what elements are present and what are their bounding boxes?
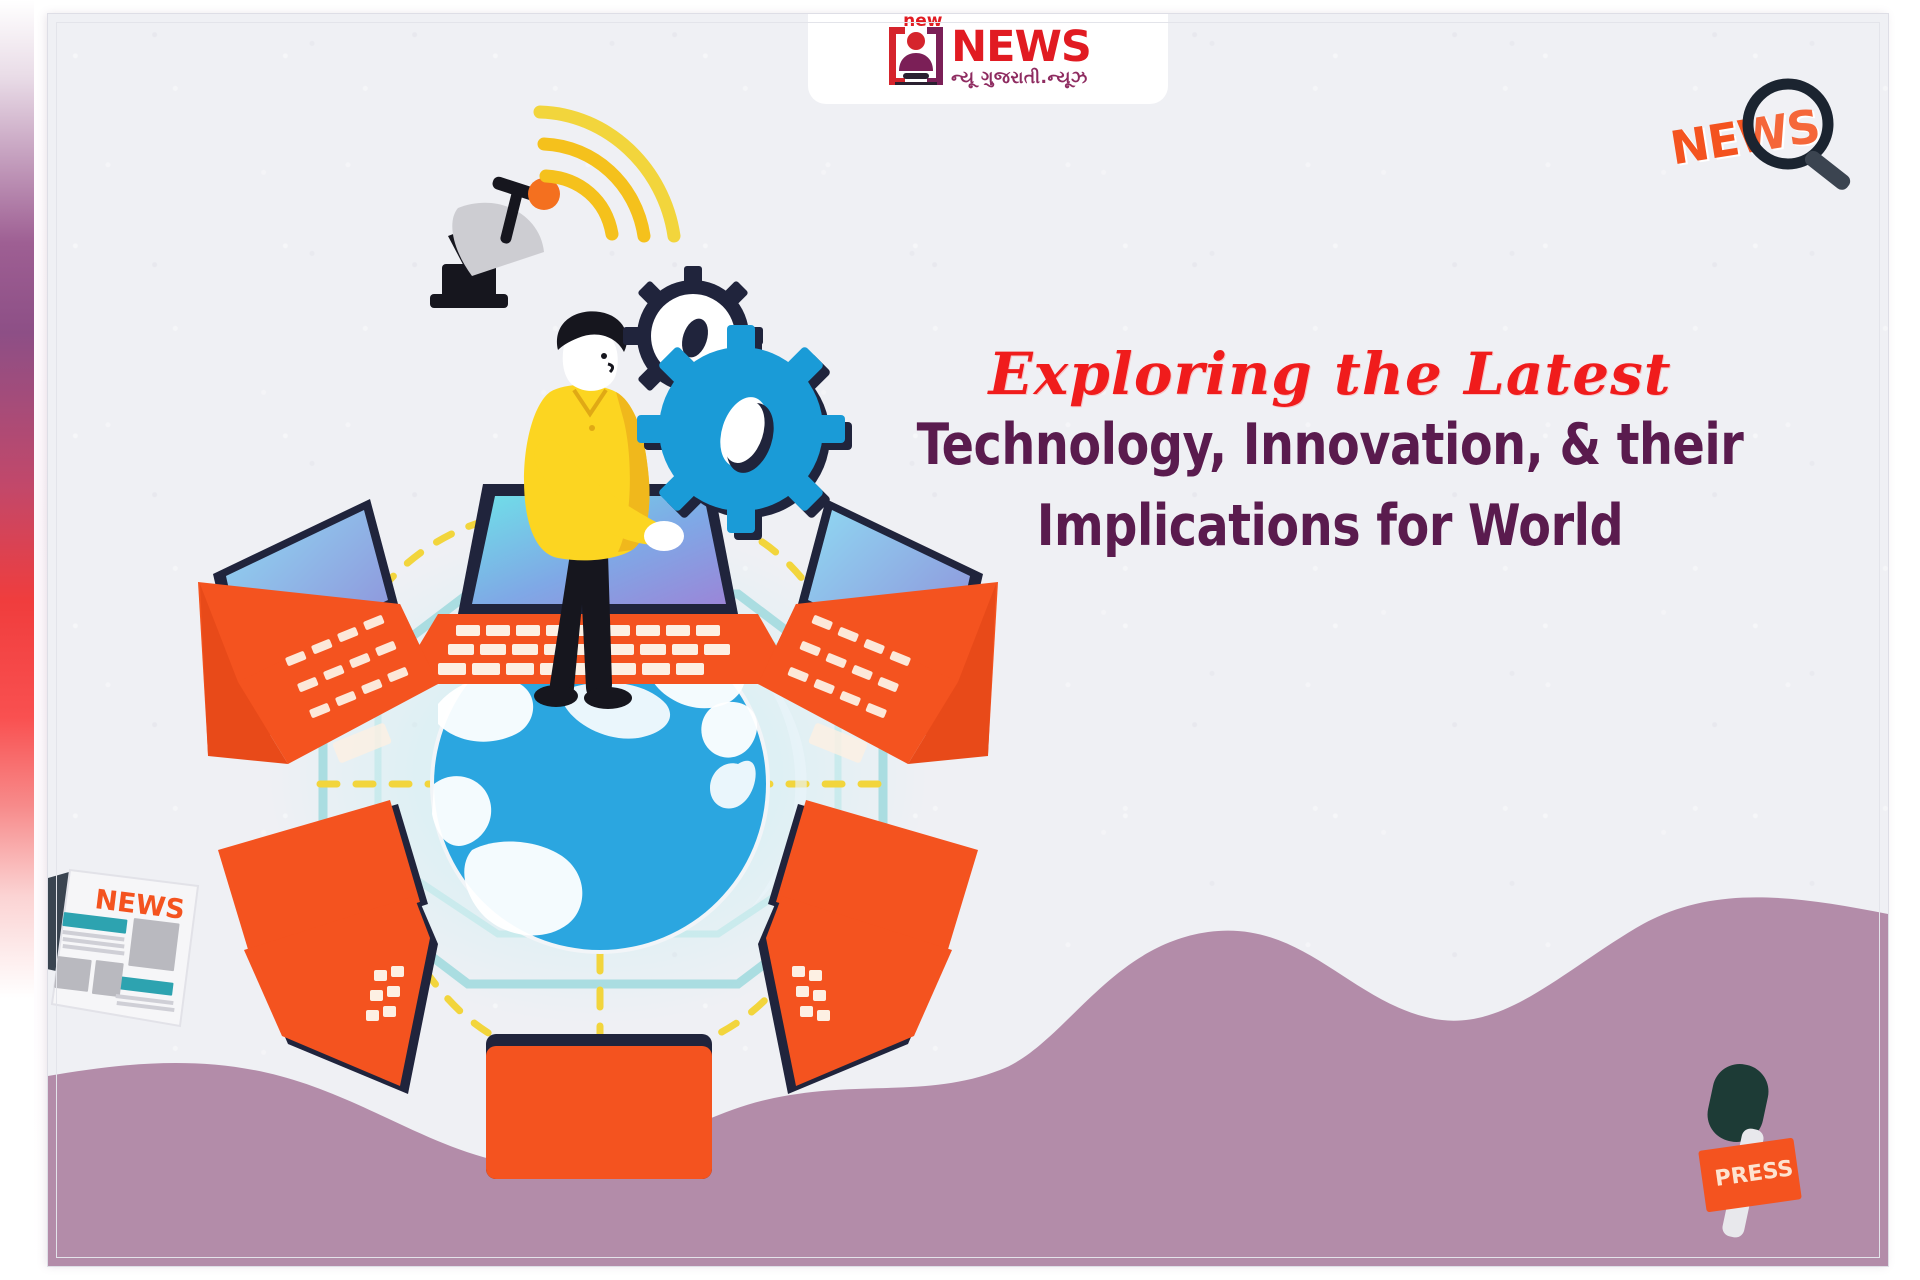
satellite-dish-icon: [430, 175, 560, 308]
newspaper-icon: NEWS: [48, 864, 226, 1044]
news-magnifier-decoration: NEWS: [1670, 76, 1870, 196]
g-person-monitor-icon: new: [885, 23, 947, 89]
magnifying-glass-icon: [1670, 76, 1870, 196]
newspaper-decoration: NEWS: [48, 864, 226, 1044]
logo-wordmark: NEWS: [951, 26, 1091, 69]
banner-canvas: Exploring the Latest Technology, Innovat…: [0, 0, 1920, 1280]
headline-line-3: Implications for World: [912, 486, 1749, 567]
microphone-icon: PRESS: [1688, 1058, 1838, 1248]
technology-network-illustration: [138, 84, 1158, 1194]
laptop-right-lower: [758, 800, 978, 1094]
logo-new-badge: new: [903, 14, 942, 31]
logo-subtitle: ન્યૂ ગુજરાતી.ન્યૂઝ: [951, 70, 1088, 87]
wifi-waves-icon: [540, 112, 674, 236]
banner-card: Exploring the Latest Technology, Innovat…: [48, 14, 1888, 1266]
left-edge-color-strip: [0, 0, 34, 1280]
headline-line-2: Technology, Innovation, & their: [912, 405, 1749, 486]
brand-logo[interactable]: new NEWS ન્યૂ ગુજરાતી.ન્યૂઝ: [808, 14, 1168, 104]
laptop-bottom-center: [486, 1034, 712, 1179]
left-edge-highlight: [34, 0, 48, 1280]
press-microphone-decoration: PRESS: [1688, 1058, 1838, 1248]
laptop-left-lower: [218, 800, 438, 1094]
headline-script-line: Exploring the Latest: [880, 344, 1780, 405]
headline-block: Exploring the Latest Technology, Innovat…: [880, 344, 1780, 567]
